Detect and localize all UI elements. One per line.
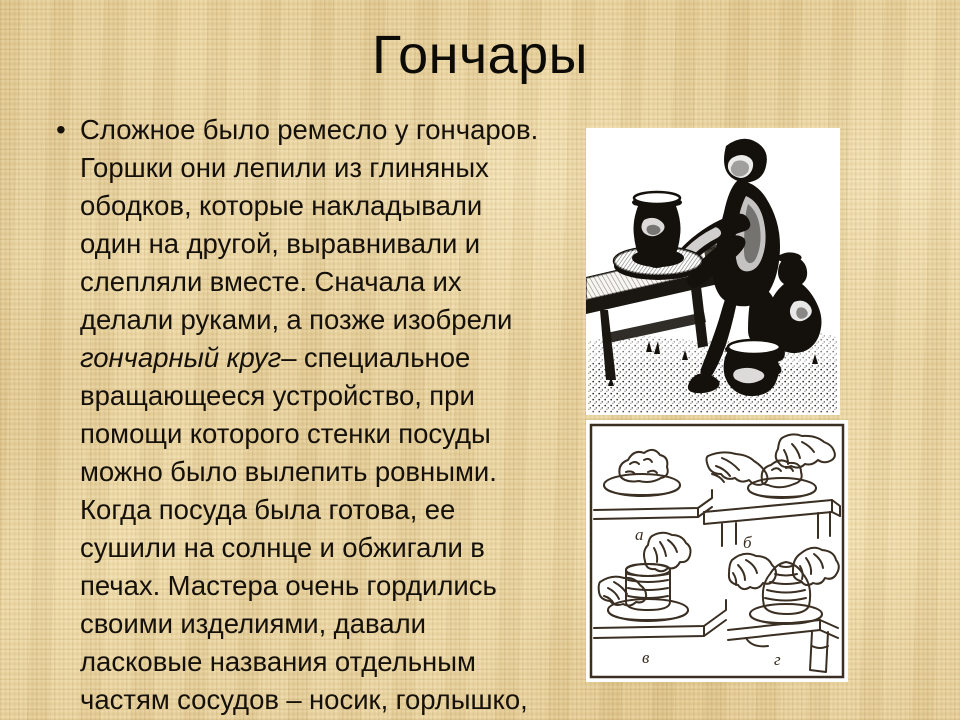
bullet-marker: • bbox=[50, 111, 80, 149]
pottery-steps-diagram-svg: а bbox=[586, 420, 848, 682]
body-segment-3: – специальное вращающееся устройство, пр… bbox=[80, 342, 528, 720]
pottery-steps-diagram-image: а bbox=[586, 420, 848, 682]
slide: Гончары • Сложное было ремесло у гончаро… bbox=[0, 0, 960, 720]
body-paragraph: Сложное было ремесло у гончаров. Горшки … bbox=[80, 111, 550, 720]
potter-engraving-image bbox=[586, 128, 840, 415]
body-segment-emphasis: гончарный круг bbox=[80, 342, 281, 373]
bullet-paragraph-block: • Сложное было ремесло у гончаров. Горшк… bbox=[50, 111, 550, 720]
svg-text:г: г bbox=[774, 650, 781, 669]
slide-title: Гончары bbox=[0, 24, 960, 86]
svg-text:а: а bbox=[635, 525, 644, 544]
potter-engraving-svg bbox=[586, 128, 840, 415]
svg-text:б: б bbox=[743, 533, 752, 552]
svg-text:в: в bbox=[642, 648, 650, 667]
body-segment-1: Сложное было ремесло у гончаров. Горшки … bbox=[80, 114, 538, 335]
